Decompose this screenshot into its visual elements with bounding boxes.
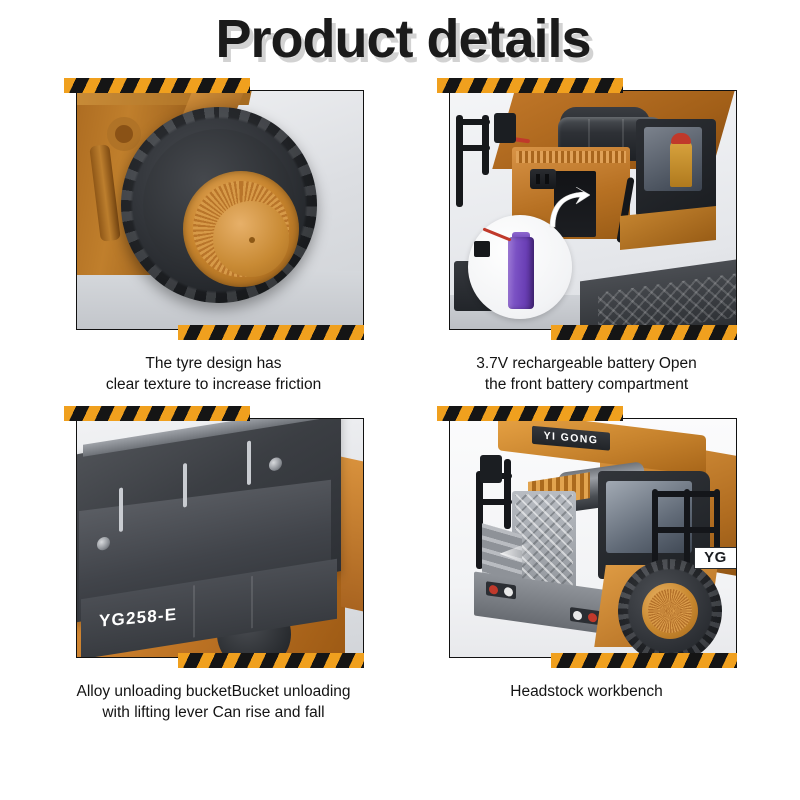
battery-cell-body — [508, 237, 534, 309]
front-wheel — [618, 559, 722, 658]
driver-figure — [670, 141, 692, 187]
light-white — [504, 586, 513, 596]
bumper-mesh-texture — [598, 271, 737, 330]
product-detail-grid: The tyre design has clear texture to inc… — [0, 78, 800, 724]
operator-cab — [636, 119, 716, 217]
panel-caption: The tyre design has clear texture to inc… — [106, 353, 321, 396]
tyre — [121, 107, 317, 303]
bucket-bolt — [269, 456, 282, 472]
photo-frame — [437, 78, 737, 340]
panel-caption: 3.7V rechargeable battery Open the front… — [476, 353, 697, 396]
step-platform — [620, 206, 716, 250]
cab-glass — [644, 127, 702, 191]
hazard-stripe-top-icon — [437, 78, 623, 93]
panel-caption: Alloy unloading bucketBucket unloading w… — [76, 681, 350, 724]
photo-frame: YG258-E — [64, 406, 364, 668]
bucket-lip — [83, 418, 331, 457]
photo-frame: YI GONG — [437, 406, 737, 668]
side-mirror — [480, 455, 502, 483]
light-white — [573, 610, 582, 620]
rail-bar — [476, 499, 512, 505]
product-photo-bucket[interactable]: YG258-E — [76, 418, 364, 658]
page-header: Product details — [0, 0, 800, 78]
light-red — [588, 612, 597, 622]
caption-line-2: clear texture to increase friction — [106, 374, 321, 395]
rail-post — [456, 115, 463, 207]
cage-bar — [652, 527, 720, 533]
callout-arrow-icon — [546, 187, 590, 231]
detail-panel-headstock: YI GONG — [407, 406, 766, 724]
driver-helmet — [671, 133, 691, 144]
page-title: Product details — [209, 12, 590, 66]
hinge-pivot — [107, 117, 141, 151]
rail-bar — [456, 119, 490, 125]
plug-pin — [536, 174, 540, 184]
detail-panel-bucket: YG258-E Alloy unloading bucketBucket unl… — [34, 406, 393, 724]
side-badge-label: YG — [704, 549, 727, 566]
plug-pin — [545, 174, 549, 184]
cage-bar — [652, 491, 720, 497]
battery-plug — [474, 241, 490, 257]
photo-frame — [64, 78, 364, 340]
hazard-stripe-bottom-icon — [551, 325, 737, 340]
hazard-stripe-top-icon — [437, 406, 623, 421]
tail-light-cluster — [486, 581, 516, 599]
wheel-hub — [642, 583, 698, 639]
bucket-brace — [183, 463, 187, 508]
brand-plate: YI GONG — [532, 426, 610, 451]
battery-connector-plug — [530, 169, 556, 189]
wheel-hub — [183, 171, 299, 287]
caption-line-1: Alloy unloading bucketBucket unloading — [76, 683, 350, 700]
panel-caption: Headstock workbench — [510, 681, 663, 702]
tyre-sidewall — [143, 129, 295, 281]
hub-ring — [193, 181, 289, 277]
side-mirror — [494, 113, 516, 143]
front-bumper-mesh — [580, 257, 737, 330]
panel-seam — [251, 576, 253, 628]
caption-line-2: the front battery compartment — [476, 374, 697, 395]
caption-line-2: with lifting lever Can rise and fall — [76, 702, 350, 723]
caption-line-1: Headstock workbench — [510, 683, 663, 700]
caption-line-1: The tyre design has — [145, 355, 281, 372]
side-badge: YG — [694, 547, 737, 569]
caption-line-1: 3.7V rechargeable battery Open — [476, 355, 697, 372]
hub-center — [213, 201, 289, 277]
light-red — [489, 584, 498, 594]
battery-red-wire — [482, 227, 511, 241]
brand-label: YI GONG — [543, 430, 598, 447]
hazard-stripe-top-icon — [64, 78, 250, 93]
rail-bar — [456, 145, 490, 151]
housing-ribs — [516, 151, 626, 163]
rail-post — [504, 459, 511, 529]
product-photo-battery[interactable] — [449, 90, 737, 330]
model-number-label: YG258-E — [99, 605, 177, 632]
hazard-stripe-bottom-icon — [551, 653, 737, 668]
bucket-brace — [119, 487, 123, 532]
hazard-stripe-top-icon — [64, 406, 250, 421]
panel-seam — [193, 585, 195, 637]
hazard-stripe-bottom-icon — [178, 653, 364, 668]
product-photo-headstock[interactable]: YI GONG — [449, 418, 737, 658]
hazard-stripe-bottom-icon — [178, 325, 364, 340]
hub-ring — [648, 589, 692, 633]
tail-light-cluster — [570, 607, 600, 625]
product-photo-tyre[interactable] — [76, 90, 364, 330]
detail-panel-battery: 3.7V rechargeable battery Open the front… — [407, 78, 766, 396]
bucket-brace — [247, 440, 251, 485]
hub-axle-dot — [249, 237, 255, 243]
chassis-side-edge — [341, 456, 363, 611]
detail-panel-tyre: The tyre design has clear texture to inc… — [34, 78, 393, 396]
